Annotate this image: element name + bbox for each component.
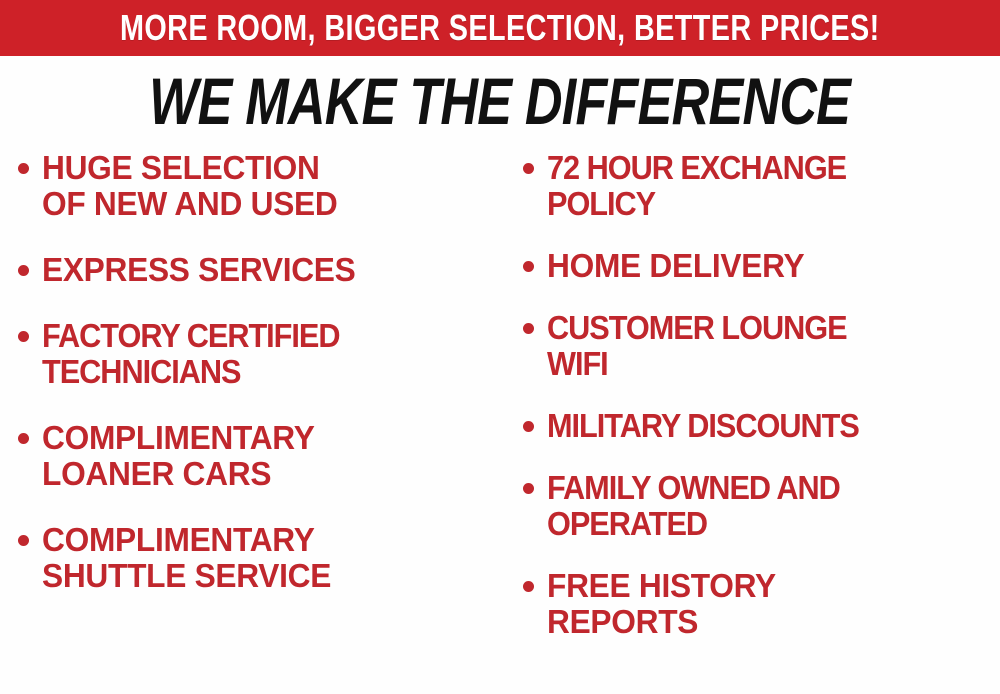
list-item: HUGE SELECTION OF NEW AND USED	[18, 150, 501, 222]
bullet-dot-icon	[18, 265, 29, 276]
list-item-label: COMPLIMENTARY LOANER CARS	[42, 420, 315, 492]
list-item: MILITARY DISCOUNTS	[523, 408, 1000, 444]
bullet-dot-icon	[18, 433, 29, 444]
bullet-dot-icon	[18, 163, 29, 174]
top-banner: MORE ROOM, BIGGER SELECTION, BETTER PRIC…	[0, 0, 1000, 56]
promotional-poster: MORE ROOM, BIGGER SELECTION, BETTER PRIC…	[0, 0, 1000, 694]
list-item: COMPLIMENTARY LOANER CARS	[18, 420, 501, 492]
list-item: FACTORY CERTIFIED TECHNICIANS	[18, 318, 501, 390]
list-item: HOME DELIVERY	[523, 248, 1000, 284]
banner-headline-text: MORE ROOM, BIGGER SELECTION, BETTER PRIC…	[120, 10, 880, 46]
list-item-label: MILITARY DISCOUNTS	[547, 408, 859, 444]
list-item-label: 72 HOUR EXCHANGE POLICY	[547, 150, 846, 222]
list-item-label: HOME DELIVERY	[547, 248, 804, 284]
bullet-dot-icon	[523, 421, 534, 432]
list-item-label: HUGE SELECTION OF NEW AND USED	[42, 150, 337, 222]
list-item: 72 HOUR EXCHANGE POLICY	[523, 150, 1000, 222]
bullet-dot-icon	[18, 535, 29, 546]
bullet-dot-icon	[18, 331, 29, 342]
list-item-label: FAMILY OWNED AND OPERATED	[547, 470, 840, 542]
list-item: COMPLIMENTARY SHUTTLE SERVICE	[18, 522, 501, 594]
benefits-column-left: HUGE SELECTION OF NEW AND USED EXPRESS S…	[0, 150, 505, 624]
list-item-label: FREE HISTORY REPORTS	[547, 568, 776, 640]
headline-container: WE MAKE THE DIFFERENCE	[0, 68, 1000, 134]
list-item: FAMILY OWNED AND OPERATED	[523, 470, 1000, 542]
bullet-dot-icon	[523, 323, 534, 334]
bullet-dot-icon	[523, 261, 534, 272]
list-item: FREE HISTORY REPORTS	[523, 568, 1000, 640]
list-item-label: FACTORY CERTIFIED TECHNICIANS	[42, 318, 339, 390]
bullet-dot-icon	[523, 581, 534, 592]
benefits-columns: HUGE SELECTION OF NEW AND USED EXPRESS S…	[0, 150, 1000, 694]
list-item-label: COMPLIMENTARY SHUTTLE SERVICE	[42, 522, 331, 594]
page-title: WE MAKE THE DIFFERENCE	[149, 68, 850, 134]
list-item-label: CUSTOMER LOUNGE WIFI	[547, 310, 847, 382]
bullet-dot-icon	[523, 163, 534, 174]
bullet-dot-icon	[523, 483, 534, 494]
list-item-label: EXPRESS SERVICES	[42, 252, 356, 288]
list-item: CUSTOMER LOUNGE WIFI	[523, 310, 1000, 382]
list-item: EXPRESS SERVICES	[18, 252, 501, 288]
benefits-column-right: 72 HOUR EXCHANGE POLICY HOME DELIVERY CU…	[505, 150, 1000, 666]
